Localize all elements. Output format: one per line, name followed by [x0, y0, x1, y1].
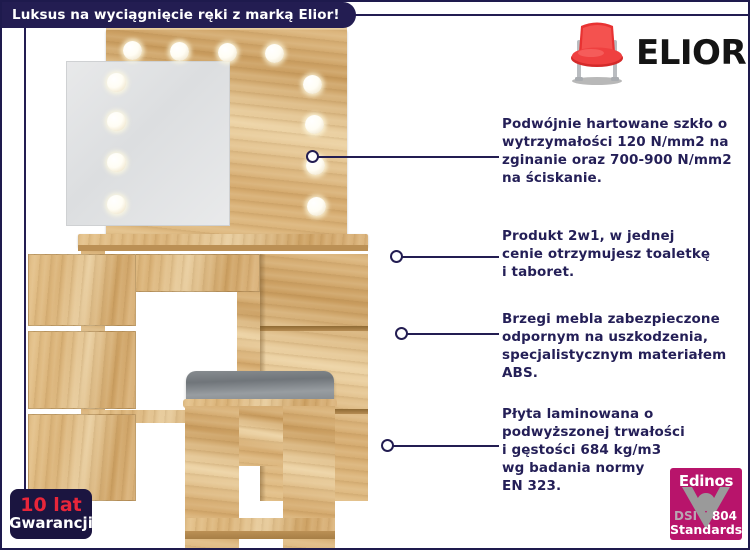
- callout-leader-laminated-board: [388, 445, 499, 447]
- callout-dot-glass[interactable]: [306, 150, 319, 163]
- light-bulb: [218, 43, 237, 62]
- light-bulb: [107, 153, 126, 172]
- cabinet-drawer: [28, 254, 136, 326]
- infographic-page: Luksus na wyciągnięcie ręki z marką Elio…: [0, 0, 750, 550]
- light-bulb: [107, 112, 126, 131]
- light-bulb: [170, 42, 189, 61]
- warranty-badge: 10 lat Gwarancji: [10, 489, 92, 539]
- cabinet-drawer: [28, 414, 136, 501]
- warranty-label: Gwarancji: [9, 515, 93, 532]
- brand-logo: ELIOR: [564, 16, 744, 90]
- callout-dot-abs-edges[interactable]: [395, 327, 408, 340]
- callout-text-glass: Podwójnie hartowane szkło o wytrzymałośc…: [502, 116, 732, 188]
- light-bulb: [123, 41, 142, 60]
- mirror-glass: [66, 61, 230, 226]
- callout-leader-glass: [313, 156, 499, 158]
- callout-text-laminated-board: Płyta laminowana o podwyższonej trwałośc…: [502, 406, 685, 496]
- callout-leader-two-in-one: [397, 256, 499, 258]
- frame-left-rule: [24, 28, 26, 538]
- light-bulb: [305, 115, 324, 134]
- product-illustration: [28, 30, 448, 530]
- light-bulb: [265, 44, 284, 63]
- edinos-left-code: DSI: [674, 509, 697, 523]
- edinos-right-code: 804: [712, 509, 737, 523]
- callout-text-two-in-one: Produkt 2w1, w jednej cenie otrzymujesz …: [502, 228, 710, 282]
- light-bulb: [107, 195, 126, 214]
- stool-foot: [185, 531, 335, 539]
- light-bulb: [307, 197, 326, 216]
- red-chair-icon: [564, 18, 630, 88]
- header-banner: Luksus na wyciągnięcie ręki z marką Elio…: [0, 2, 356, 28]
- brand-name: ELIOR: [636, 36, 746, 70]
- callout-leader-abs-edges: [402, 333, 499, 335]
- callout-text-abs-edges: Brzegi mebla zabezpieczone odpornym na u…: [502, 311, 726, 383]
- edinos-standards-badge: Edinos DSI 804 Standards: [670, 468, 742, 540]
- edinos-standards-label: Standards: [670, 522, 742, 537]
- stool-back-panel: [239, 406, 283, 466]
- warranty-years: 10 lat: [20, 496, 81, 515]
- light-bulb: [303, 75, 322, 94]
- cabinet-drawer: [28, 331, 136, 409]
- desk-top-front-edge: [78, 245, 368, 251]
- drawer-gap: [260, 326, 368, 331]
- callout-dot-two-in-one[interactable]: [390, 250, 403, 263]
- stool-shelf: [185, 518, 335, 531]
- light-bulb: [107, 73, 126, 92]
- callout-dot-laminated-board[interactable]: [381, 439, 394, 452]
- header-banner-text: Luksus na wyciągnięcie ręki z marką Elio…: [12, 7, 340, 23]
